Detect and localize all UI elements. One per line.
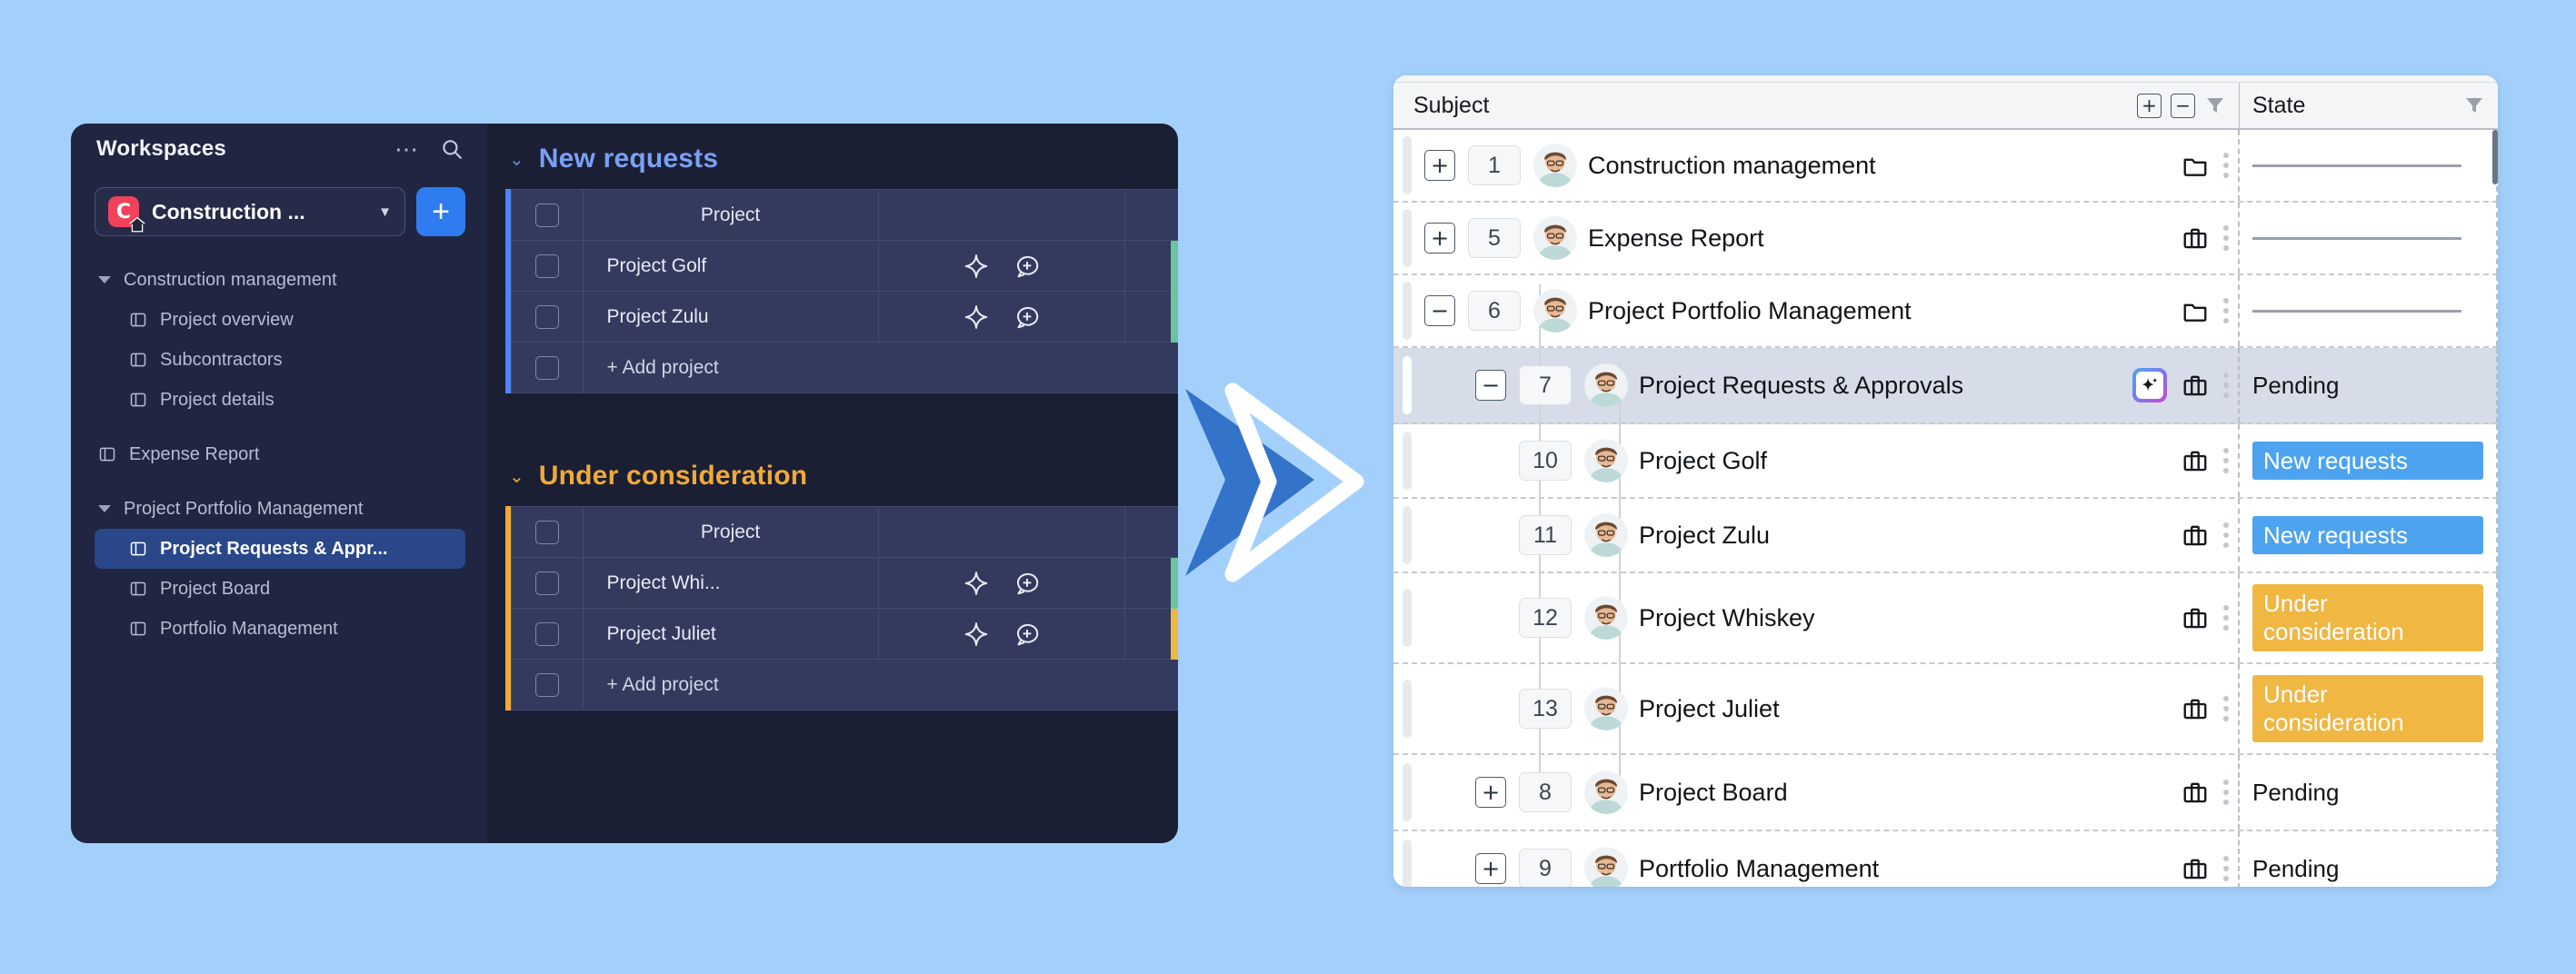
sparkle-icon[interactable] — [963, 303, 990, 331]
avatar — [1584, 596, 1628, 640]
row-state-cell[interactable]: Pending — [2240, 755, 2498, 830]
status-badge[interactable]: Under consideration — [2252, 584, 2483, 651]
add-comment-icon[interactable] — [1013, 303, 1041, 331]
sidebar-item-label: Project Portfolio Management — [124, 499, 363, 520]
row-select-cell[interactable] — [512, 660, 584, 711]
transition-arrow — [1178, 378, 1396, 587]
folder-icon — [2182, 297, 2209, 324]
status-text: Pending — [2252, 855, 2339, 883]
grid-topbar — [1393, 75, 2498, 83]
briefcase-icon — [2182, 695, 2209, 722]
sidebar-item-project-details[interactable]: Project details — [95, 380, 465, 420]
row-state-cell[interactable] — [2240, 275, 2498, 346]
table-row-selected[interactable]: − 7 Project Requests & Approvals — [1393, 348, 2498, 424]
add-workspace-button[interactable]: + — [416, 187, 465, 236]
add-comment-icon[interactable] — [1013, 253, 1041, 280]
row-subject-cell[interactable]: − 7 Project Requests & Approvals — [1393, 348, 2240, 422]
row-menu-button[interactable] — [2223, 522, 2229, 548]
row-checkbox[interactable] — [535, 673, 559, 697]
column-header-subject[interactable]: Subject + − — [1393, 83, 2240, 128]
row-menu-button[interactable] — [2223, 856, 2229, 881]
panel-icon — [129, 351, 147, 369]
table-row[interactable]: + 9 Portfolio Management Pending — [1393, 831, 2498, 887]
row-title: Project Golf — [1639, 447, 1767, 475]
row-actions-cell — [878, 609, 1124, 660]
add-project-row[interactable]: + Add project — [512, 660, 1179, 711]
row-state-cell[interactable] — [2240, 130, 2498, 201]
row-actions-cell — [878, 292, 1124, 343]
row-number: 7 — [1519, 365, 1572, 405]
collapse-all-button[interactable]: − — [2171, 94, 2195, 118]
row-state-cell[interactable]: New requests — [2240, 499, 2498, 571]
row-menu-button[interactable] — [2223, 448, 2229, 473]
sidebar-nav: Construction management Project overview — [71, 260, 487, 649]
row-status-strip — [1171, 292, 1178, 343]
row-status-strip — [1171, 558, 1178, 609]
row-title: Project Portfolio Management — [1588, 297, 1912, 325]
sparkle-icon[interactable] — [963, 570, 990, 597]
sidebar-item-project-board[interactable]: Project Board — [95, 569, 465, 609]
chevron-down-icon[interactable]: ⌄ — [509, 465, 524, 488]
table-row[interactable]: − 6 Project Portfolio Management — [1393, 275, 2498, 348]
section-header-new-requests[interactable]: ⌄ New requests — [487, 124, 1178, 189]
project-name-cell[interactable]: Project Juliet — [583, 609, 878, 660]
avatar — [1533, 289, 1577, 333]
row-number: 1 — [1468, 145, 1521, 185]
collapse-row-button[interactable]: − — [1475, 370, 1506, 401]
add-project-label[interactable]: + Add project — [583, 343, 1178, 393]
sidebar-item-label: Project Requests & Appr... — [160, 539, 387, 560]
section-accent-bar — [505, 506, 511, 711]
row-subject-cell[interactable]: 10 Project Golf — [1393, 424, 2240, 497]
row-drag-handle[interactable] — [1403, 282, 1412, 340]
row-number: 6 — [1468, 291, 1521, 331]
avatar — [1533, 144, 1577, 187]
sidebar-item-label: Project overview — [160, 310, 294, 331]
expand-row-button[interactable]: + — [1475, 853, 1506, 884]
expand-row-button[interactable]: + — [1475, 777, 1506, 808]
avatar — [1584, 513, 1628, 557]
column-header-subject-label: Subject — [1413, 93, 1489, 119]
folder-icon — [2182, 152, 2209, 179]
ellipsis-icon[interactable]: ⋯ — [394, 144, 420, 154]
section-accent-bar — [505, 189, 511, 393]
grid-window: Subject + − State — [1393, 75, 2498, 887]
row-number: 9 — [1519, 849, 1572, 887]
status-badge[interactable]: New requests — [2252, 516, 2483, 555]
row-title: Project Whiskey — [1639, 604, 1815, 632]
sparkle-icon[interactable] — [963, 253, 990, 280]
row-actions-cell — [878, 241, 1124, 292]
row-title: Construction management — [1588, 152, 1876, 180]
home-icon — [128, 215, 146, 234]
row-actions-cell — [878, 558, 1124, 609]
row-checkbox[interactable] — [535, 571, 559, 595]
briefcase-icon — [2182, 447, 2209, 474]
column-header-blank — [878, 507, 1124, 558]
row-menu-button[interactable] — [2223, 373, 2229, 398]
avatar — [1533, 216, 1577, 260]
row-drag-handle[interactable] — [1403, 589, 1412, 647]
table-row[interactable]: Project Golf — [512, 241, 1179, 292]
sparkle-icon[interactable] — [963, 621, 990, 648]
table-row[interactable]: + 5 Expense Report — [1393, 203, 2498, 275]
column-header-state-label: State — [2252, 93, 2305, 119]
sidebar-item-label: Construction management — [124, 270, 337, 291]
table-row[interactable]: Project Juliet — [512, 609, 1179, 660]
select-all-checkbox[interactable] — [535, 521, 559, 544]
row-state-cell[interactable]: Pending — [2240, 348, 2498, 422]
briefcase-icon — [2182, 779, 2209, 806]
sidebar-title: Workspaces — [96, 136, 226, 162]
sidebar-spacer — [71, 420, 487, 434]
row-title: Project Zulu — [1639, 522, 1770, 550]
row-state-cell[interactable]: New requests — [2240, 424, 2498, 497]
table-row[interactable]: + 1 Construction management — [1393, 130, 2498, 203]
row-menu-button[interactable] — [2223, 225, 2229, 251]
row-title: Portfolio Management — [1639, 855, 1879, 883]
briefcase-icon — [2182, 224, 2209, 252]
briefcase-icon — [2182, 855, 2209, 882]
table-header-row: Project Initiator — [512, 190, 1179, 241]
status-badge[interactable]: New requests — [2252, 442, 2483, 481]
panel-icon — [129, 391, 147, 409]
column-header-state[interactable]: State — [2240, 83, 2498, 128]
avatar — [1584, 363, 1628, 407]
sidebar-item-label: Expense Report — [129, 444, 259, 465]
panel-icon — [129, 311, 147, 329]
chevron-right-arrow-icon — [1178, 378, 1396, 587]
panel-icon — [98, 445, 116, 463]
row-number: 5 — [1468, 218, 1521, 258]
row-subject-cell[interactable]: + 9 Portfolio Management — [1393, 831, 2240, 887]
column-header-initiator[interactable]: Initiator — [1124, 190, 1178, 241]
search-icon[interactable] — [440, 137, 464, 161]
table-row[interactable]: Project Whi... — [512, 558, 1179, 609]
workspace-logo: C — [108, 196, 139, 227]
add-comment-icon[interactable] — [1013, 570, 1041, 597]
sidebar-item-label: Project details — [160, 390, 275, 411]
add-project-row[interactable]: + Add project — [512, 343, 1179, 393]
row-drag-handle[interactable] — [1403, 136, 1412, 194]
add-comment-icon[interactable] — [1013, 621, 1041, 648]
collapse-row-button[interactable]: − — [1424, 295, 1455, 326]
filter-icon[interactable] — [2204, 94, 2226, 116]
sidebar-item-project-portfolio-management[interactable]: Project Portfolio Management — [95, 489, 465, 529]
workspace-selector[interactable]: C Construction ... ▼ — [95, 187, 405, 236]
row-checkbox[interactable] — [535, 356, 559, 380]
table-row[interactable]: + 8 Project Board Pending — [1393, 755, 2498, 831]
sparkle-icon — [2136, 372, 2163, 399]
row-menu-button[interactable] — [2223, 696, 2229, 721]
caret-down-icon[interactable] — [98, 276, 111, 283]
section-header-under-consideration[interactable]: ⌄ Under consideration — [487, 393, 1178, 506]
row-select-cell[interactable] — [512, 558, 584, 609]
sidebar-item-label: Subcontractors — [160, 350, 283, 371]
row-status-strip — [1171, 609, 1178, 660]
row-subject-cell[interactable]: 12 Project Whiskey — [1393, 573, 2240, 662]
panel-icon — [129, 540, 147, 558]
status-badge[interactable]: Under consideration — [2252, 675, 2483, 741]
table-row[interactable]: 13 Project Juliet Under consideration — [1393, 664, 2498, 755]
row-drag-handle[interactable] — [1403, 506, 1412, 564]
table-under-consideration: Project Initiator — [505, 506, 1178, 711]
section-title: New requests — [539, 144, 718, 174]
row-select-cell[interactable] — [512, 241, 584, 292]
row-subject-cell[interactable]: − 6 Project Portfolio Management — [1393, 275, 2240, 346]
row-number: 10 — [1519, 441, 1572, 481]
sidebar-item-subcontractors[interactable]: Subcontractors — [95, 340, 465, 380]
avatar — [1584, 439, 1628, 482]
row-number: 8 — [1519, 772, 1572, 812]
panel-icon — [129, 620, 147, 638]
row-status-strip — [1171, 241, 1178, 292]
expand-row-button[interactable]: + — [1424, 223, 1455, 253]
row-number: 11 — [1519, 515, 1572, 555]
row-number: 12 — [1519, 598, 1572, 638]
sidebar-item-label: Portfolio Management — [160, 619, 338, 640]
screenshot-root: Workspaces ⋯ C — [0, 0, 2576, 974]
row-drag-handle[interactable] — [1403, 356, 1412, 414]
column-header-initiator[interactable]: Initiator — [1124, 507, 1178, 558]
briefcase-icon — [2182, 372, 2209, 399]
avatar — [1584, 770, 1628, 814]
column-header-project[interactable]: Project — [583, 507, 878, 558]
sidebar-item-construction-management[interactable]: Construction management — [95, 260, 465, 300]
table-row[interactable]: Project Zulu — [512, 292, 1179, 343]
add-project-label[interactable]: + Add project — [583, 660, 1178, 711]
table-row[interactable]: 12 Project Whiskey Under consideration — [1393, 573, 2498, 664]
row-select-cell[interactable] — [512, 343, 584, 393]
sidebar-item-project-overview[interactable]: Project overview — [95, 300, 465, 340]
row-checkbox[interactable] — [535, 622, 559, 646]
sidebar-item-project-requests-approvals[interactable]: Project Requests & Appr... — [95, 529, 465, 569]
table-new-requests: Project Initiator — [505, 189, 1178, 393]
row-checkbox[interactable] — [535, 254, 559, 278]
board-area: ⌄ New requests Project Initiator — [487, 124, 1178, 843]
row-checkbox[interactable] — [535, 305, 559, 329]
grid-header: Subject + − State — [1393, 83, 2498, 130]
row-state-cell[interactable]: Pending — [2240, 831, 2498, 887]
row-menu-button[interactable] — [2223, 298, 2229, 323]
workspace-selector-row: C Construction ... ▼ + — [71, 174, 487, 236]
vertical-scrollbar[interactable] — [2492, 130, 2498, 184]
row-state-cell[interactable]: Under consideration — [2240, 573, 2498, 662]
column-header-project[interactable]: Project — [583, 190, 878, 241]
row-select-cell[interactable] — [512, 609, 584, 660]
row-title: Project Board — [1639, 779, 1788, 807]
briefcase-icon — [2182, 604, 2209, 631]
row-title: Project Requests & Approvals — [1639, 372, 1963, 400]
ai-sparkle-button[interactable] — [2132, 368, 2167, 403]
column-header-blank — [878, 190, 1124, 241]
grid-body: + 1 Construction management — [1393, 130, 2498, 887]
avatar — [1584, 687, 1628, 730]
workspace-name: Construction ... — [152, 200, 365, 224]
project-name-cell[interactable]: Project Whi... — [583, 558, 878, 609]
row-drag-handle[interactable] — [1403, 432, 1412, 490]
row-subject-cell[interactable]: 11 Project Zulu — [1393, 499, 2240, 571]
sidebar: Workspaces ⋯ C — [71, 124, 487, 843]
row-drag-handle[interactable] — [1403, 209, 1412, 267]
chevron-down-icon[interactable]: ⌄ — [509, 148, 524, 171]
row-menu-button[interactable] — [2223, 153, 2229, 178]
state-empty-placeholder — [2252, 310, 2461, 313]
status-text: Pending — [2252, 372, 2339, 400]
row-drag-handle[interactable] — [1403, 680, 1412, 738]
table-row[interactable]: 10 Project Golf New requests — [1393, 424, 2498, 499]
status-text: Pending — [2252, 779, 2339, 807]
row-select-cell[interactable] — [512, 292, 584, 343]
state-empty-placeholder — [2252, 164, 2461, 167]
select-all-checkbox[interactable] — [535, 204, 559, 227]
project-name-cell[interactable]: Project Golf — [583, 241, 878, 292]
sidebar-header: Workspaces ⋯ — [71, 124, 487, 174]
section-title: Under consideration — [539, 461, 808, 492]
sidebar-item-label: Project Board — [160, 579, 270, 600]
row-number: 13 — [1519, 689, 1572, 729]
row-drag-handle[interactable] — [1403, 763, 1412, 821]
table-row[interactable]: 11 Project Zulu New requests — [1393, 499, 2498, 573]
panel-icon — [129, 580, 147, 598]
sidebar-spacer — [71, 474, 487, 489]
row-subject-cell[interactable]: + 5 Expense Report — [1393, 203, 2240, 273]
row-drag-handle[interactable] — [1403, 840, 1412, 887]
row-state-cell[interactable] — [2240, 203, 2498, 273]
filter-icon[interactable] — [2463, 94, 2485, 116]
row-menu-button[interactable] — [2223, 780, 2229, 805]
select-all-cell[interactable] — [512, 190, 584, 241]
expand-all-button[interactable]: + — [2137, 94, 2162, 118]
avatar — [1584, 847, 1628, 887]
briefcase-icon — [2182, 522, 2209, 549]
row-menu-button[interactable] — [2223, 605, 2229, 631]
sidebar-item-expense-report[interactable]: Expense Report — [95, 434, 465, 474]
state-empty-placeholder — [2252, 237, 2461, 240]
row-title: Expense Report — [1588, 224, 1764, 253]
expand-row-button[interactable]: + — [1424, 150, 1455, 181]
row-subject-cell[interactable]: 13 Project Juliet — [1393, 664, 2240, 753]
chevron-down-icon[interactable]: ▼ — [378, 204, 392, 220]
select-all-cell[interactable] — [512, 507, 584, 558]
row-subject-cell[interactable]: + 1 Construction management — [1393, 130, 2240, 201]
row-title: Project Juliet — [1639, 695, 1780, 723]
caret-down-icon[interactable] — [98, 505, 111, 512]
table-header-row: Project Initiator — [512, 507, 1179, 558]
sidebar-item-portfolio-management[interactable]: Portfolio Management — [95, 609, 465, 649]
row-subject-cell[interactable]: + 8 Project Board — [1393, 755, 2240, 830]
project-name-cell[interactable]: Project Zulu — [583, 292, 878, 343]
workspace-app-window: Workspaces ⋯ C — [71, 124, 1178, 843]
row-state-cell[interactable]: Under consideration — [2240, 664, 2498, 753]
